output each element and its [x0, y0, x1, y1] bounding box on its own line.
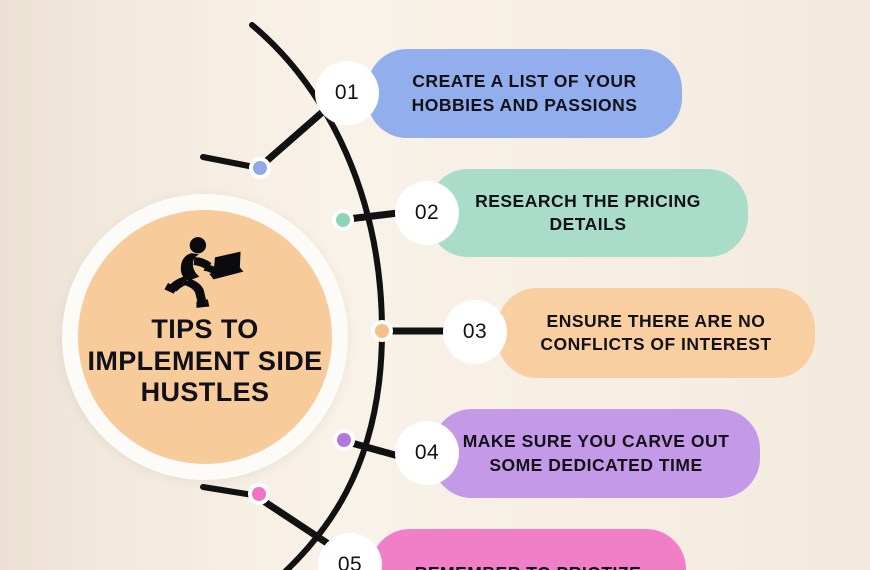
item-text-line: SOME DEDICATED TIME	[463, 454, 730, 477]
item-pill-05[interactable]: REMEMBER TO PRIOTIZE	[370, 529, 686, 570]
center-circle: TIPS TO IMPLEMENT SIDE HUSTLES	[78, 210, 332, 464]
item-text-line: MAKE SURE YOU CARVE OUT	[463, 430, 730, 453]
infographic-canvas: TIPS TO IMPLEMENT SIDE HUSTLES CREATE A …	[0, 0, 870, 570]
item-text-line: ENSURE THERE ARE NO	[540, 310, 771, 333]
node-dot-02[interactable]	[336, 213, 350, 227]
spoke-left-01	[203, 157, 254, 167]
node-dot-04[interactable]	[337, 433, 351, 447]
item-text-04: MAKE SURE YOU CARVE OUT SOME DEDICATED T…	[463, 430, 730, 476]
item-pill-01[interactable]: CREATE A LIST OF YOUR HOBBIES AND PASSIO…	[367, 49, 682, 138]
item-text-05: REMEMBER TO PRIOTIZE	[415, 562, 642, 570]
item-text-01: CREATE A LIST OF YOUR HOBBIES AND PASSIO…	[412, 70, 638, 116]
node-dot-03[interactable]	[375, 324, 389, 338]
node-dot-05[interactable]	[252, 487, 266, 501]
item-text-02: RESEARCH THE PRICING DETAILS	[475, 190, 701, 236]
item-number-badge-04[interactable]: 04	[395, 421, 459, 485]
item-pill-04[interactable]: MAKE SURE YOU CARVE OUT SOME DEDICATED T…	[432, 409, 760, 498]
item-pill-02[interactable]: RESEARCH THE PRICING DETAILS	[428, 169, 748, 257]
title-line-1: TIPS TO	[79, 314, 331, 346]
item-text-03: ENSURE THERE ARE NO CONFLICTS OF INTERES…	[540, 310, 771, 356]
item-text-line: HOBBIES AND PASSIONS	[412, 94, 638, 117]
item-text-line: CREATE A LIST OF YOUR	[412, 70, 638, 93]
item-text-line: REMEMBER TO PRIOTIZE	[415, 562, 642, 570]
spoke-04	[348, 442, 402, 457]
title-line-3: HUSTLES	[79, 377, 331, 409]
spoke-02	[348, 213, 398, 219]
item-number-badge-02[interactable]: 02	[395, 181, 459, 245]
page-title: TIPS TO IMPLEMENT SIDE HUSTLES	[79, 314, 331, 409]
item-text-line: DETAILS	[475, 213, 701, 236]
node-dot-01[interactable]	[253, 161, 267, 175]
spoke-05	[262, 500, 330, 545]
spoke-01	[262, 109, 326, 165]
item-text-line: CONFLICTS OF INTEREST	[540, 333, 771, 356]
item-number-badge-01[interactable]: 01	[315, 61, 379, 125]
running-person-with-laptop-icon	[162, 236, 248, 310]
item-pill-03[interactable]: ENSURE THERE ARE NO CONFLICTS OF INTERES…	[497, 288, 815, 378]
item-number-badge-03[interactable]: 03	[443, 300, 507, 364]
title-line-2: IMPLEMENT SIDE	[79, 346, 331, 378]
item-text-line: RESEARCH THE PRICING	[475, 190, 701, 213]
spoke-left-05	[203, 487, 253, 495]
